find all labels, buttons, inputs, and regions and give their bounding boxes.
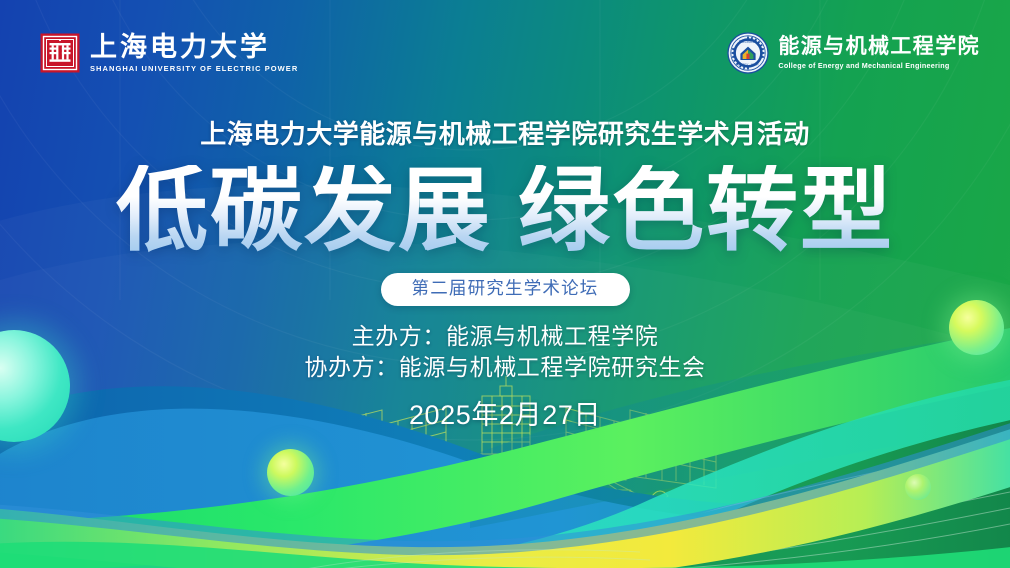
main-title: 低碳发展绿色转型: [116, 165, 894, 259]
organizer-block: 主办方：能源与机械工程学院 协办方：能源与机械工程学院研究生会: [304, 321, 705, 384]
forum-badge: 第二届研究生学术论坛: [381, 273, 630, 306]
event-subtitle: 上海电力大学能源与机械工程学院研究生学术月活动: [175, 118, 835, 151]
organizer-line: 主办方：能源与机械工程学院: [304, 321, 705, 353]
poster-canvas: 上海电力大学: [0, 0, 1010, 568]
main-title-part2: 绿色转型: [518, 160, 894, 262]
event-date: 2025年2月27日: [409, 393, 601, 432]
poster-content: 上海电力大学能源与机械工程学院研究生学术月活动 低碳发展绿色转型 第二届研究生学…: [0, 0, 1010, 568]
co-organizer-line: 协办方：能源与机械工程学院研究生会: [304, 352, 705, 384]
main-title-part1: 低碳发展: [116, 160, 492, 262]
